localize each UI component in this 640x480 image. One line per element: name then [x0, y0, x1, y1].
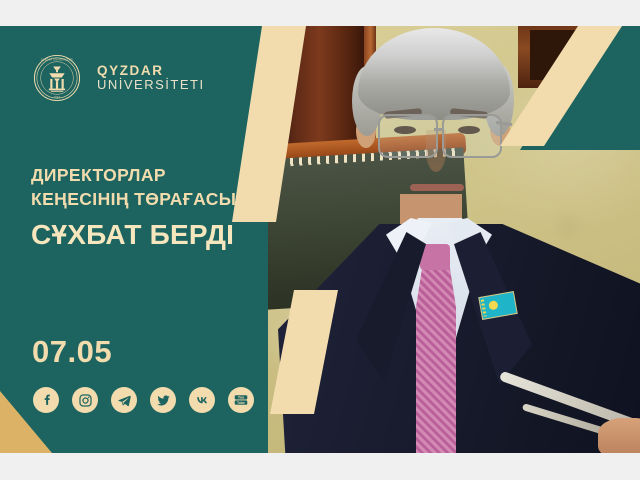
university-seal-icon: QYZDAR UNIVERSITETI 1944 — [33, 54, 81, 102]
facebook-icon[interactable] — [33, 387, 59, 413]
eyeglasses-lens-right — [442, 114, 502, 158]
poster-content: QYZDAR UNIVERSITETI 1944 QYZDAR UNİVERSİ… — [0, 26, 300, 453]
poster-artboard: QYZDAR UNIVERSITETI 1944 QYZDAR UNİVERSİ… — [0, 26, 640, 453]
brand-text: QYZDAR UNİVERSİTETI — [97, 63, 205, 93]
svg-text:1944: 1944 — [54, 96, 61, 99]
brand-name: QYZDAR — [97, 63, 205, 79]
brand-subname: UNİVERSİTETI — [97, 78, 205, 93]
twitter-icon[interactable] — [150, 387, 176, 413]
youtube-icon[interactable]: You Tube — [228, 387, 254, 413]
headline-title: СҰХБАТ БЕРДІ — [31, 220, 281, 249]
social-links: You Tube — [33, 387, 254, 413]
letterbox-band-bottom — [0, 453, 640, 480]
eyeglasses-lens-left — [378, 114, 438, 158]
necktie — [416, 266, 456, 453]
vk-icon[interactable] — [189, 387, 215, 413]
telegram-icon[interactable] — [111, 387, 137, 413]
poster-canvas: QYZDAR UNIVERSITETI 1944 QYZDAR UNİVERSİ… — [0, 0, 640, 480]
brand-lockup[interactable]: QYZDAR UNIVERSITETI 1944 QYZDAR UNİVERSİ… — [33, 54, 205, 102]
headline-kicker-line1: ДИРЕКТОРЛАР — [31, 164, 281, 188]
letterbox-band-top — [0, 0, 640, 26]
pin-ornament — [481, 299, 487, 316]
headline-kicker-line2: КЕҢЕСІНІҢ ТӨРАҒАСЫ — [31, 188, 281, 212]
eyeglasses-bridge — [434, 128, 444, 131]
instagram-icon[interactable] — [72, 387, 98, 413]
svg-text:QYZDAR UNIVERSITETI: QYZDAR UNIVERSITETI — [41, 59, 73, 62]
event-date: 07.05 — [32, 334, 112, 370]
hand — [598, 418, 640, 453]
mouth — [410, 184, 464, 191]
svg-text:Tube: Tube — [237, 401, 245, 405]
pin-sun — [488, 300, 498, 310]
svg-text:You: You — [238, 396, 244, 400]
headline-block: ДИРЕКТОРЛАР КЕҢЕСІНІҢ ТӨРАҒАСЫ СҰХБАТ БЕ… — [31, 164, 281, 250]
